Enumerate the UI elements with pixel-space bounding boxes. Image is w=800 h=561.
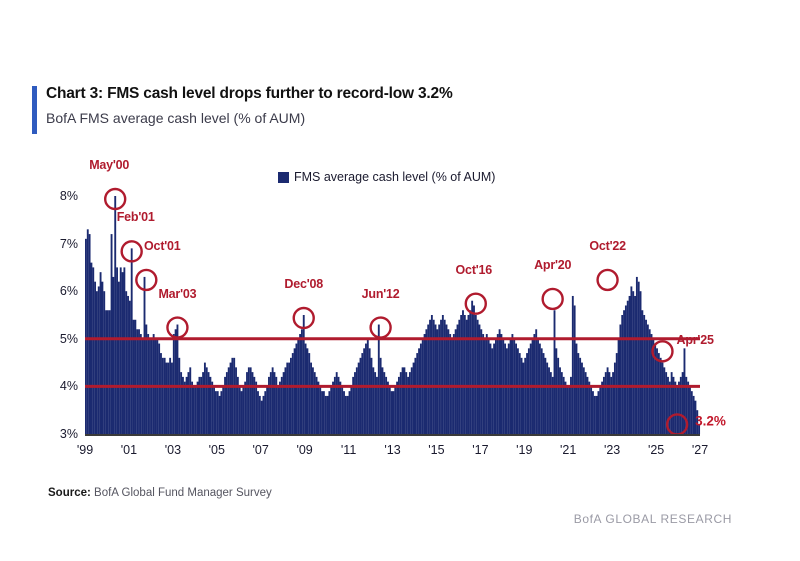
bar	[94, 282, 96, 434]
bar	[543, 353, 545, 434]
bar	[598, 391, 600, 434]
chart-svg	[85, 196, 700, 434]
bar	[508, 344, 510, 434]
bar	[645, 320, 647, 434]
bar	[109, 310, 111, 434]
chart-annotation-label: Dec'08	[284, 277, 323, 291]
bar	[557, 358, 559, 434]
bar	[98, 286, 100, 434]
bar	[123, 267, 125, 434]
bar	[310, 363, 312, 434]
bar	[568, 386, 570, 434]
bar	[453, 334, 455, 434]
bar	[233, 358, 235, 434]
bar-series	[85, 196, 700, 434]
bar	[202, 372, 204, 434]
bar	[292, 353, 294, 434]
bar	[526, 353, 528, 434]
bar	[164, 358, 166, 434]
bar	[349, 391, 351, 434]
bar	[283, 372, 285, 434]
bar	[246, 372, 248, 434]
annotation-circle	[371, 318, 391, 338]
bar	[576, 344, 578, 434]
bar	[546, 363, 548, 434]
bar	[539, 344, 541, 434]
bar	[460, 315, 462, 434]
x-axis-tick-label: '11	[341, 443, 356, 457]
bar	[241, 391, 243, 434]
bar	[416, 353, 418, 434]
brand-footer: BofA GLOBAL RESEARCH	[574, 512, 732, 526]
bar	[360, 358, 362, 434]
bar	[405, 372, 407, 434]
bar	[689, 386, 691, 434]
bar	[519, 353, 521, 434]
bar	[206, 367, 208, 434]
bar	[299, 334, 301, 434]
bar	[420, 344, 422, 434]
bar	[250, 367, 252, 434]
chart-annotation-label: Feb'01	[117, 210, 155, 224]
bar	[640, 291, 642, 434]
annotation-circle	[598, 270, 618, 290]
source-text: BofA Global Fund Manager Survey	[94, 487, 272, 499]
bar	[559, 367, 561, 434]
bar	[427, 325, 429, 434]
bar	[252, 372, 254, 434]
bar	[204, 363, 206, 434]
bar	[312, 367, 314, 434]
bar	[497, 334, 499, 434]
bar	[220, 391, 222, 434]
bar	[511, 334, 513, 434]
y-axis-tick-label: 6%	[60, 284, 78, 298]
bar	[303, 315, 305, 434]
bar	[160, 353, 162, 434]
bar	[171, 363, 173, 434]
bar	[301, 329, 303, 434]
bar	[500, 334, 502, 434]
bar	[327, 396, 329, 434]
bar	[129, 301, 131, 434]
bar	[125, 291, 127, 434]
bar	[242, 386, 244, 434]
bar	[444, 320, 446, 434]
bar	[466, 320, 468, 434]
bar	[455, 329, 457, 434]
bar	[601, 382, 603, 434]
bar	[114, 196, 116, 434]
bar	[90, 263, 92, 434]
x-axis-tick-label: '15	[428, 443, 444, 457]
bar	[469, 310, 471, 434]
bar	[647, 325, 649, 434]
bar	[524, 358, 526, 434]
bar	[691, 391, 693, 434]
y-axis-tick-label: 7%	[60, 237, 78, 251]
bar	[147, 334, 149, 434]
bar	[217, 391, 219, 434]
bar	[471, 301, 473, 434]
bar	[191, 382, 193, 434]
bar	[305, 344, 307, 434]
bar	[643, 315, 645, 434]
bar	[231, 358, 233, 434]
x-axis-tick-label: '99	[77, 443, 93, 457]
bar	[107, 310, 109, 434]
bar	[438, 325, 440, 434]
bar	[431, 315, 433, 434]
chart-header: Chart 3: FMS cash level drops further to…	[32, 84, 732, 127]
bar	[270, 372, 272, 434]
chart-annotation-label: Jun'12	[362, 287, 400, 301]
x-axis-tick-label: '07	[253, 443, 269, 457]
bar	[566, 386, 568, 434]
bar	[413, 363, 415, 434]
bar	[259, 396, 261, 434]
x-axis-tick-label: '13	[384, 443, 400, 457]
bar	[215, 391, 217, 434]
bar	[464, 315, 466, 434]
bar	[550, 372, 552, 434]
bar	[122, 272, 124, 434]
bar	[409, 372, 411, 434]
bar	[574, 305, 576, 434]
bar	[134, 320, 136, 434]
bar	[361, 353, 363, 434]
bar	[294, 348, 296, 434]
bar	[264, 391, 266, 434]
bar	[177, 325, 179, 434]
y-axis-tick-label: 4%	[60, 379, 78, 393]
bar	[649, 329, 651, 434]
bar	[358, 363, 360, 434]
bar	[228, 367, 230, 434]
x-axis-tick-label: '23	[604, 443, 620, 457]
bar	[226, 372, 228, 434]
bar	[356, 367, 358, 434]
x-axis-tick-label: '25	[648, 443, 664, 457]
bar-chart-canvas	[85, 196, 700, 434]
bar	[544, 358, 546, 434]
bar	[565, 382, 567, 434]
bar	[336, 372, 338, 434]
bar	[623, 310, 625, 434]
x-axis-tick-label: '17	[472, 443, 488, 457]
bar	[440, 320, 442, 434]
bar	[435, 325, 437, 434]
bar	[319, 386, 321, 434]
bar	[596, 396, 598, 434]
bar	[239, 386, 241, 434]
chart-annotation-label: Oct'22	[589, 239, 626, 253]
bar	[396, 382, 398, 434]
annotation-circle	[136, 270, 156, 290]
y-axis-tick-label: 5%	[60, 332, 78, 346]
bar	[343, 391, 345, 434]
bar	[158, 344, 160, 434]
bar	[468, 315, 470, 434]
bar	[521, 358, 523, 434]
source-label: Source:	[48, 487, 91, 499]
bar	[127, 296, 129, 434]
bar	[669, 382, 671, 434]
bar	[341, 386, 343, 434]
bar	[447, 329, 449, 434]
bar	[380, 358, 382, 434]
bar	[632, 291, 634, 434]
bar	[592, 391, 594, 434]
bar	[605, 372, 607, 434]
bar	[257, 391, 259, 434]
bar	[244, 382, 246, 434]
legend-label: FMS average cash level (% of AUM)	[294, 170, 495, 184]
bar	[491, 348, 493, 434]
bar	[608, 372, 610, 434]
bar	[288, 363, 290, 434]
bar	[641, 310, 643, 434]
bar	[345, 396, 347, 434]
bar	[272, 367, 274, 434]
bar	[619, 325, 621, 434]
bar	[541, 348, 543, 434]
bar	[222, 386, 224, 434]
bar	[144, 277, 146, 434]
bar	[424, 334, 426, 434]
bar	[682, 372, 684, 434]
bar	[449, 334, 451, 434]
bar	[590, 386, 592, 434]
bar	[374, 372, 376, 434]
y-axis-tick-label: 8%	[60, 189, 78, 203]
bar	[208, 372, 210, 434]
bar	[676, 386, 678, 434]
source-note: Source: BofA Global Fund Manager Survey	[48, 487, 272, 499]
bar	[235, 367, 237, 434]
bar	[230, 363, 232, 434]
bar	[166, 363, 168, 434]
bar	[458, 320, 460, 434]
bar	[188, 372, 190, 434]
bar	[533, 334, 535, 434]
bar	[515, 344, 517, 434]
bar	[89, 234, 91, 434]
bar	[363, 348, 365, 434]
chart-annotation-label: May'00	[89, 158, 129, 172]
bar	[371, 358, 373, 434]
accent-bar	[32, 86, 37, 134]
bar	[663, 367, 665, 434]
bar	[169, 358, 171, 434]
bar	[506, 348, 508, 434]
bar	[100, 272, 102, 434]
bar	[607, 367, 609, 434]
bar	[173, 334, 175, 434]
bar	[387, 382, 389, 434]
bar	[263, 396, 265, 434]
bar	[577, 353, 579, 434]
bar	[85, 239, 87, 434]
bar	[193, 386, 195, 434]
bar	[162, 358, 164, 434]
chart-annotation-label: Apr'20	[534, 258, 571, 272]
bar	[87, 229, 89, 434]
bar	[279, 382, 281, 434]
x-axis-tick-label: '21	[560, 443, 576, 457]
bar	[403, 367, 405, 434]
legend-swatch-icon	[278, 172, 289, 183]
bar	[671, 372, 673, 434]
bar	[629, 296, 631, 434]
bar	[612, 372, 614, 434]
bar	[638, 282, 640, 434]
bar	[583, 367, 585, 434]
bar	[594, 396, 596, 434]
bar	[475, 315, 477, 434]
page-title: Chart 3: FMS cash level drops further to…	[32, 84, 732, 104]
bar	[579, 358, 581, 434]
bar	[111, 234, 113, 434]
bar	[332, 382, 334, 434]
bar	[535, 329, 537, 434]
bar	[588, 382, 590, 434]
x-axis-tick-label: '09	[296, 443, 312, 457]
page-subtitle: BofA FMS average cash level (% of AUM)	[32, 104, 732, 127]
bar	[446, 325, 448, 434]
bar	[321, 391, 323, 434]
bar	[140, 334, 142, 434]
bar	[625, 305, 627, 434]
bar	[133, 320, 135, 434]
bar	[581, 363, 583, 434]
bar	[197, 382, 199, 434]
bar	[490, 344, 492, 434]
bar	[219, 396, 221, 434]
bar	[383, 372, 385, 434]
bar	[561, 372, 563, 434]
bar	[504, 344, 506, 434]
bar	[528, 348, 530, 434]
bar	[662, 363, 664, 434]
bar	[138, 329, 140, 434]
bar	[477, 320, 479, 434]
bar	[175, 329, 177, 434]
bar	[211, 382, 213, 434]
bar	[261, 401, 263, 434]
chart-annotation-label: Apr'25	[677, 333, 714, 347]
bar	[554, 310, 556, 434]
x-axis-line	[85, 434, 700, 436]
annotation-circle	[543, 289, 563, 309]
bar	[277, 386, 279, 434]
bar	[555, 348, 557, 434]
bar	[328, 391, 330, 434]
bar	[684, 348, 686, 434]
bar	[493, 344, 495, 434]
bar	[101, 282, 103, 434]
bar	[153, 334, 155, 434]
bar	[436, 329, 438, 434]
annotation-circle	[466, 294, 486, 314]
bar	[369, 348, 371, 434]
bar	[308, 353, 310, 434]
bar	[499, 329, 501, 434]
bar	[285, 367, 287, 434]
bar	[522, 363, 524, 434]
bar	[486, 334, 488, 434]
bar	[339, 382, 341, 434]
bar	[585, 372, 587, 434]
bar	[400, 372, 402, 434]
bar	[414, 358, 416, 434]
bar	[103, 291, 105, 434]
bar	[184, 382, 186, 434]
bar	[442, 315, 444, 434]
bar	[382, 367, 384, 434]
bar	[394, 386, 396, 434]
bar	[178, 358, 180, 434]
bar	[347, 396, 349, 434]
chart-annotation-label: Oct'01	[144, 239, 181, 253]
bar	[658, 353, 660, 434]
bar	[96, 291, 98, 434]
bar	[627, 301, 629, 434]
bar	[286, 363, 288, 434]
x-axis-tick-label: '03	[165, 443, 181, 457]
bar	[248, 367, 250, 434]
bar	[548, 367, 550, 434]
bar	[634, 296, 636, 434]
bar	[290, 358, 292, 434]
bar	[433, 320, 435, 434]
bar	[391, 391, 393, 434]
bar	[323, 391, 325, 434]
bar	[411, 367, 413, 434]
x-axis-tick-label: '01	[121, 443, 137, 457]
bar	[180, 372, 182, 434]
bar	[189, 367, 191, 434]
bar	[674, 382, 676, 434]
bar	[621, 315, 623, 434]
bar	[389, 386, 391, 434]
bar	[372, 367, 374, 434]
bar	[630, 286, 632, 434]
bar	[378, 325, 380, 434]
x-axis-tick-label: '19	[516, 443, 532, 457]
bar	[136, 329, 138, 434]
bar	[274, 372, 276, 434]
bar	[462, 310, 464, 434]
bar	[145, 325, 147, 434]
bar	[473, 305, 475, 434]
end-value-label: 3.2%	[695, 413, 726, 428]
chart-annotation-label: Oct'16	[456, 263, 493, 277]
bar	[350, 386, 352, 434]
bar	[636, 277, 638, 434]
bar	[482, 334, 484, 434]
bar	[213, 386, 215, 434]
bar	[393, 391, 395, 434]
y-axis-tick-label: 3%	[60, 427, 78, 441]
bar	[614, 363, 616, 434]
bar	[317, 382, 319, 434]
bar	[255, 382, 257, 434]
bar	[330, 386, 332, 434]
bar	[116, 267, 118, 434]
chart-page: Chart 3: FMS cash level drops further to…	[0, 0, 800, 561]
bar	[112, 277, 114, 434]
